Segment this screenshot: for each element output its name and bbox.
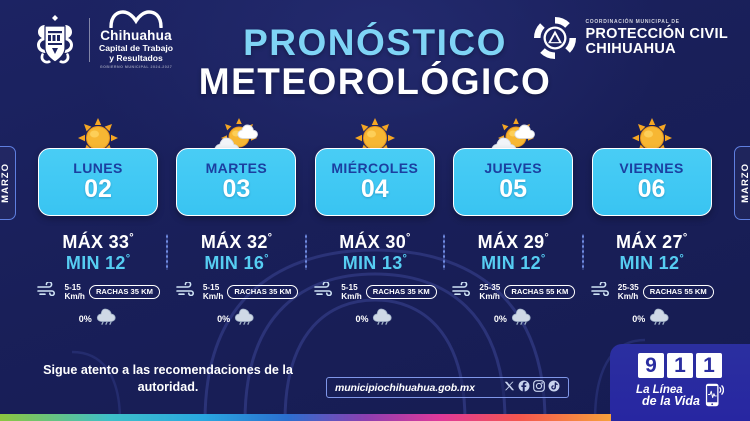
day-number: 02	[84, 176, 112, 202]
min-temperature: MIN 16°	[204, 253, 269, 274]
website-url-badge[interactable]: municipiochihuahua.gob.mx	[326, 377, 569, 398]
wind-info: 25-35Km/h RACHAS 55 KM	[451, 282, 575, 301]
wind-speed: 25-35Km/h	[479, 283, 500, 301]
digit-1-first: 1	[667, 353, 693, 378]
max-temperature: MÁX 29°	[478, 232, 550, 253]
rain-probability: 0%	[79, 314, 92, 324]
forecast-detail-lunes: MÁX 33° MIN 12° 5-15Km/h RACHAS 35 KM	[29, 232, 167, 332]
max-temperature: MÁX 27°	[616, 232, 688, 253]
wind-speed: 5-15Km/h	[64, 283, 84, 301]
wind-icon	[175, 282, 199, 301]
social-links[interactable]	[503, 379, 560, 397]
wind-info: 5-15Km/h RACHAS 35 KM	[175, 282, 298, 301]
911-tagline-text: La Línea de la Vida	[636, 385, 700, 408]
wind-gust-badge: RACHAS 35 KM	[89, 285, 160, 299]
digit-9: 9	[638, 353, 664, 378]
rain-info: 0%	[217, 307, 256, 330]
day-name: MARTES	[206, 161, 268, 175]
infographic-canvas: Chihuahua Capital de Trabajo y Resultado…	[0, 0, 750, 421]
title-line-meteorologico: METEOROLÓGICO	[0, 63, 750, 102]
rain-info: 0%	[494, 307, 533, 330]
civil-protection-text: COORDINACIÓN MUNICIPAL DE PROTECCIÓN CIV…	[585, 20, 728, 57]
day-column: LUNES 02	[29, 148, 167, 218]
day-number: 03	[222, 176, 250, 202]
max-temperature: MÁX 30°	[339, 232, 411, 253]
day-number: 05	[499, 176, 527, 202]
forecast-detail-martes: MÁX 32° MIN 16° 5-15Km/h RACHAS 35 KM	[167, 232, 305, 332]
day-name: MIÉRCOLES	[331, 161, 418, 175]
wind-gust-badge: RACHAS 35 KM	[366, 285, 437, 299]
footer-message: Sigue atento a las recomendaciones de la…	[24, 362, 312, 396]
wind-info: 25-35Km/h RACHAS 55 KM	[590, 282, 714, 301]
wind-info: 5-15Km/h RACHAS 35 KM	[36, 282, 159, 301]
rain-info: 0%	[355, 307, 394, 330]
rain-info: 0%	[79, 307, 118, 330]
website-url: municipiochihuahua.gob.mx	[335, 382, 475, 394]
x-icon[interactable]	[503, 379, 515, 397]
rain-info: 0%	[632, 307, 671, 330]
rain-cloud-icon	[649, 307, 671, 330]
day-number: 06	[638, 176, 666, 202]
tagline-line2: de la Vida	[642, 396, 700, 408]
facebook-icon[interactable]	[518, 379, 530, 397]
instagram-icon[interactable]	[533, 379, 545, 397]
chihuahua-label: CHIHUAHUA	[585, 42, 728, 57]
rain-cloud-icon	[96, 307, 118, 330]
tiktok-icon[interactable]	[548, 379, 560, 397]
day-card-miercoles[interactable]: MIÉRCOLES 04	[315, 148, 435, 216]
wind-speed: 5-15Km/h	[341, 283, 361, 301]
digit-1-second: 1	[696, 353, 722, 378]
wind-icon	[451, 282, 475, 301]
rain-probability: 0%	[355, 314, 368, 324]
wind-speed: 5-15Km/h	[203, 283, 223, 301]
min-temperature: MIN 12°	[481, 253, 546, 274]
min-temperature: MIN 13°	[343, 253, 408, 274]
day-column: MIÉRCOLES 04	[306, 148, 444, 218]
max-temperature: MÁX 32°	[201, 232, 273, 253]
rain-cloud-icon	[372, 307, 394, 330]
month-tab-right: MARZO	[734, 146, 750, 220]
month-tab-left: MARZO	[0, 146, 16, 220]
min-temperature: MIN 12°	[66, 253, 131, 274]
wind-info: 5-15Km/h RACHAS 35 KM	[313, 282, 436, 301]
header: Chihuahua Capital de Trabajo y Resultado…	[0, 0, 750, 112]
civil-protection-triangle-icon	[533, 16, 577, 60]
day-card-viernes[interactable]: VIERNES 06	[592, 148, 712, 216]
month-tab-right-label: MARZO	[740, 163, 750, 203]
wind-icon	[36, 282, 60, 301]
rain-probability: 0%	[494, 314, 507, 324]
month-tab-left-label: MARZO	[0, 163, 11, 203]
day-name: JUEVES	[484, 161, 542, 175]
forecast-detail-viernes: MÁX 27° MIN 12° 25-35Km/h RACHAS 55 KM	[583, 232, 721, 332]
wind-gust-badge: RACHAS 35 KM	[227, 285, 298, 299]
forecast-details-row: MÁX 33° MIN 12° 5-15Km/h RACHAS 35 KM	[29, 232, 721, 332]
proteccion-civil-label: PROTECCIÓN CIVIL	[585, 27, 728, 42]
forecast-day-cards: LUNES 02	[29, 148, 721, 218]
forecast-detail-miercoles: MÁX 30° MIN 13° 5-15Km/h RACHAS 35 KM	[306, 232, 444, 332]
day-column: JUEVES 05	[444, 148, 582, 218]
min-temperature: MIN 12°	[619, 253, 684, 274]
wind-speed: 25-35Km/h	[618, 283, 639, 301]
wind-icon	[313, 282, 337, 301]
wind-gust-badge: RACHAS 55 KM	[504, 285, 575, 299]
day-card-jueves[interactable]: JUEVES 05	[453, 148, 573, 216]
max-temperature: MÁX 33°	[62, 232, 134, 253]
day-card-martes[interactable]: MARTES 03	[176, 148, 296, 216]
wind-gust-badge: RACHAS 55 KM	[643, 285, 714, 299]
rain-cloud-icon	[511, 307, 533, 330]
rain-probability: 0%	[217, 314, 230, 324]
911-tagline: La Línea de la Vida	[636, 381, 724, 413]
day-column: MARTES 03	[167, 148, 305, 218]
day-number: 04	[361, 176, 389, 202]
rain-cloud-icon	[234, 307, 256, 330]
forecast-detail-jueves: MÁX 29° MIN 12° 25-35Km/h RACHAS 55 KM	[444, 232, 582, 332]
day-name: VIERNES	[619, 161, 683, 175]
day-card-lunes[interactable]: LUNES 02	[38, 148, 158, 216]
phone-pulse-icon	[704, 381, 724, 413]
coordination-label: COORDINACIÓN MUNICIPAL DE	[585, 20, 728, 25]
rain-probability: 0%	[632, 314, 645, 324]
emergency-911-badge: 9 1 1 La Línea de la Vida	[610, 344, 750, 421]
civil-protection-logo: COORDINACIÓN MUNICIPAL DE PROTECCIÓN CIV…	[533, 16, 728, 60]
gradient-accent-bar	[0, 414, 611, 421]
911-digits: 9 1 1	[638, 353, 722, 378]
day-name: LUNES	[73, 161, 122, 175]
wind-icon	[590, 282, 614, 301]
day-column: VIERNES 06	[583, 148, 721, 218]
